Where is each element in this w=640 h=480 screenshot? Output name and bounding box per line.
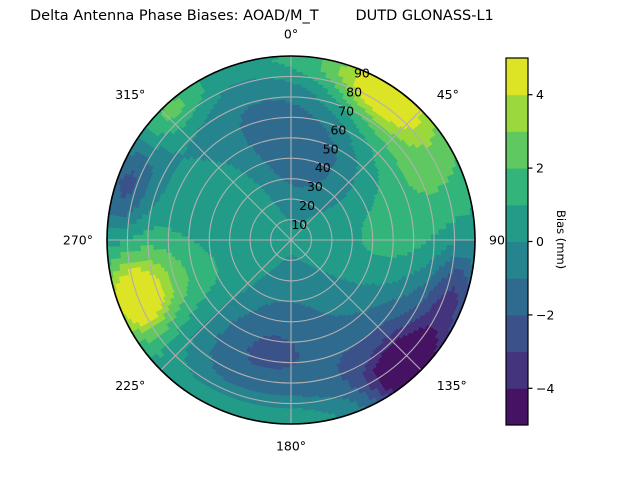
colorbar-swatch — [506, 278, 528, 315]
colorbar-tick-label: 0 — [536, 234, 544, 249]
colorbar-tick-label: −2 — [536, 307, 554, 322]
colorbar-tick-label: 4 — [536, 87, 544, 102]
azimuth-tick-label-315: 315° — [115, 87, 145, 102]
figure-canvas: Delta Antenna Phase Biases: AOAD/M_T DUT… — [0, 0, 640, 480]
radial-tick-label-30: 30 — [307, 179, 323, 194]
azimuth-tick-label-225: 225° — [115, 378, 145, 393]
azimuth-tick-label-45: 45° — [437, 87, 459, 102]
radial-tick-label-20: 20 — [299, 198, 315, 213]
colorbar-swatch — [506, 58, 528, 95]
polar-contour-plot: 0°45°90135°180°225°270°315° 102030405060… — [0, 0, 640, 480]
colorbar-swatch — [506, 388, 528, 425]
azimuth-tick-label-270: 270° — [63, 233, 93, 248]
colorbar-tick-label: 2 — [536, 161, 544, 176]
radial-tick-label-90: 90 — [354, 66, 370, 81]
azimuth-tick-label-135: 135° — [437, 378, 467, 393]
colorbar-swatch — [506, 131, 528, 168]
colorbar-swatch — [506, 242, 528, 279]
colorbar-swatch — [506, 205, 528, 242]
radial-tick-label-70: 70 — [338, 104, 354, 119]
colorbar-tick-label: −4 — [536, 381, 554, 396]
colorbar-swatch — [506, 95, 528, 132]
colorbar: 420−2−4 — [506, 58, 554, 426]
radial-tick-label-50: 50 — [323, 141, 339, 156]
figure-title: Delta Antenna Phase Biases: AOAD/M_T DUT… — [0, 8, 640, 24]
polar-grid-layer — [107, 56, 475, 424]
radial-tick-label-60: 60 — [330, 122, 346, 137]
colorbar-swatch — [506, 315, 528, 352]
azimuth-tick-label-0: 0° — [284, 27, 298, 42]
colorbar-swatch — [506, 168, 528, 205]
colorbar-axis-label: Bias (mm) — [554, 210, 568, 269]
radial-tick-label-40: 40 — [315, 160, 331, 175]
radial-tick-label-10: 10 — [291, 217, 307, 232]
colorbar-swatch — [506, 352, 528, 389]
azimuth-tick-label-90: 90 — [489, 233, 505, 248]
azimuth-tick-label-180: 180° — [276, 439, 306, 454]
radial-tick-label-80: 80 — [346, 85, 362, 100]
